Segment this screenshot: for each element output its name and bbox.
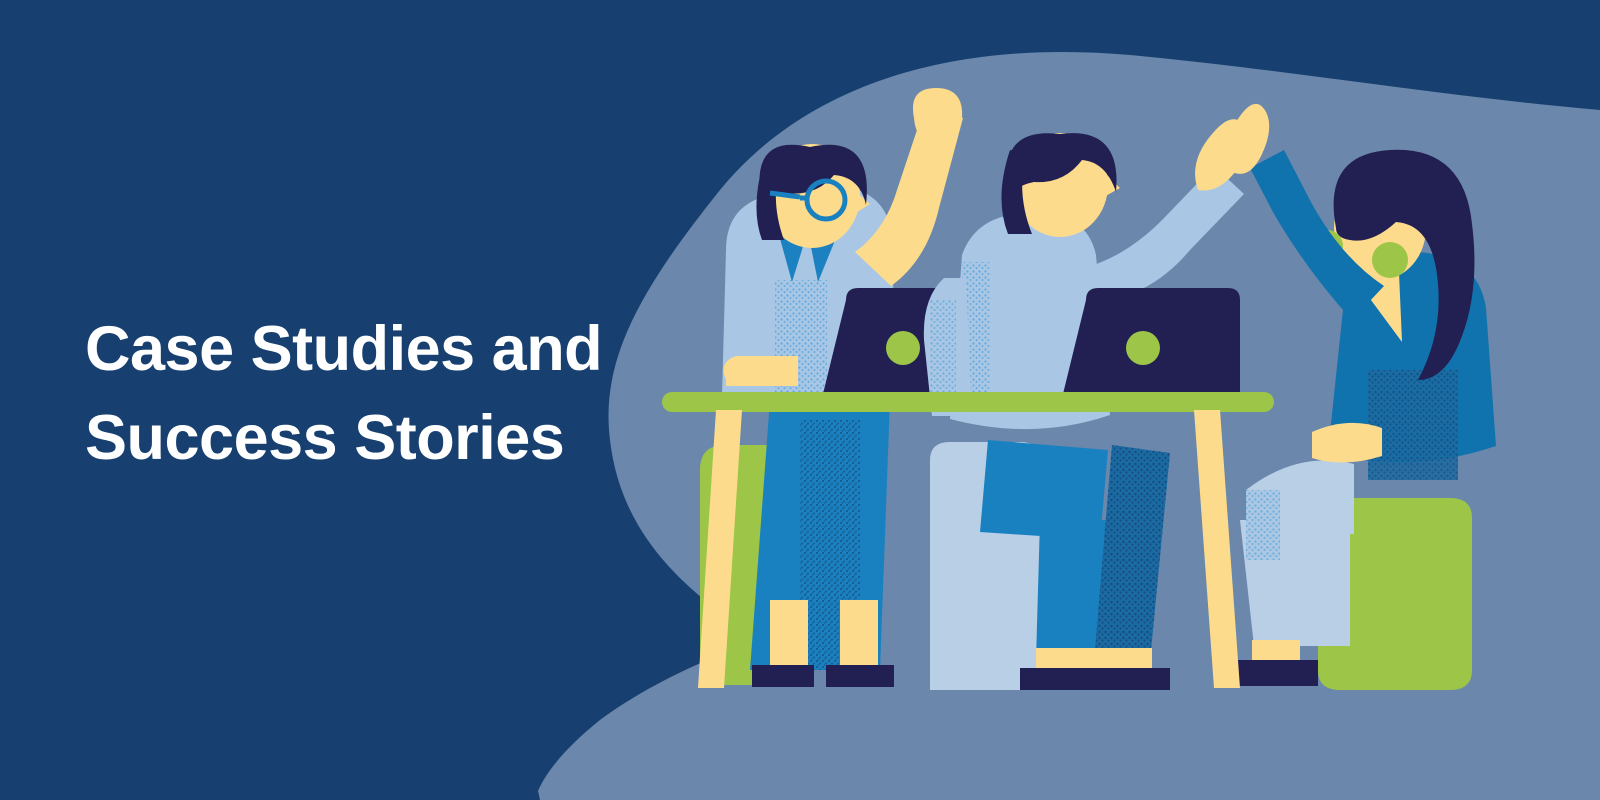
hero-banner: Case Studies and Success Stories — [0, 0, 1600, 800]
ankle-center-1 — [1036, 648, 1096, 670]
ankle-right — [1252, 640, 1300, 662]
laptop-left-logo-icon — [886, 331, 920, 365]
fist-left — [913, 88, 962, 142]
hand-right-rest — [1312, 423, 1382, 463]
shoe-center-2 — [1086, 668, 1170, 690]
earring-right-icon — [1372, 242, 1408, 278]
ankle-center-2 — [1096, 648, 1152, 670]
leg-left-1 — [770, 600, 808, 668]
arm-left-lower — [724, 356, 798, 386]
arm-center-back-texture — [930, 300, 956, 396]
shoe-right — [1232, 660, 1318, 686]
leg-right-texture — [1246, 490, 1280, 560]
laptop-right-logo-icon — [1126, 331, 1160, 365]
laptop-right — [1062, 288, 1240, 398]
page-title: Case Studies and Success Stories — [85, 305, 705, 484]
leg-left-2 — [840, 600, 878, 668]
shoe-left-1 — [752, 665, 814, 687]
desk-top — [662, 392, 1274, 412]
torso-right-texture — [1368, 370, 1458, 480]
shoe-left-2 — [826, 665, 894, 687]
